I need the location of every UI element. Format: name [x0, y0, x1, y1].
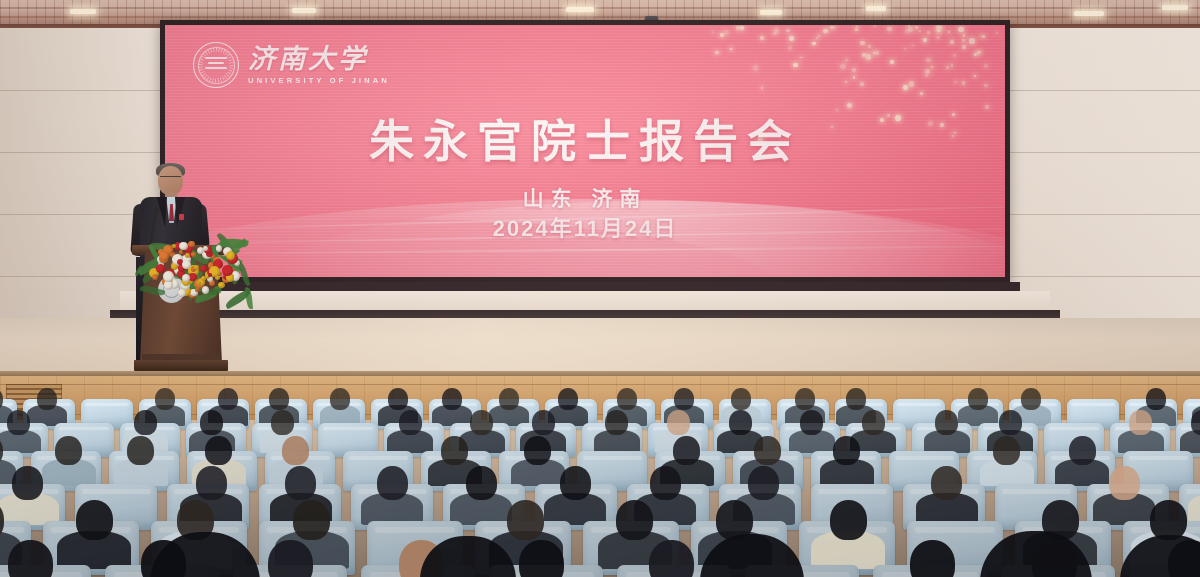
auditorium-scene: 济南大学 UNIVERSITY OF JINAN 朱永官院士报告会 山东 济南 …: [0, 0, 1200, 577]
audience-head: [269, 388, 289, 410]
bouquet-flower: [208, 273, 212, 277]
screen-bottom-trim: [150, 282, 1020, 291]
audience-head: [196, 466, 227, 500]
audience-head: [388, 388, 408, 410]
audience-head: [935, 410, 958, 435]
audience-head: [7, 410, 30, 435]
audience-head: [200, 410, 223, 435]
audience-head: [441, 436, 468, 465]
bouquet-flower: [159, 251, 169, 261]
bouquet-flower: [185, 253, 190, 258]
audience-head: [993, 436, 1020, 465]
audience-head: [558, 388, 578, 410]
audience-head: [37, 388, 57, 410]
audience-head: [285, 466, 316, 500]
screen-surface: 济南大学 UNIVERSITY OF JINAN 朱永官院士报告会 山东 济南 …: [165, 25, 1005, 277]
bouquet-leaf: [139, 283, 165, 297]
audience-head: [76, 500, 113, 540]
audience-head: [1021, 388, 1041, 410]
audience-head: [268, 540, 313, 577]
audience-head: [800, 410, 823, 435]
audience-head: [524, 436, 551, 465]
audience-head: [616, 500, 653, 540]
bouquet-leaf: [238, 261, 251, 286]
audience-head: [205, 436, 232, 465]
audience-head: [968, 388, 988, 410]
audience-head: [127, 436, 154, 465]
audience-head: [1109, 466, 1140, 500]
audience-head: [377, 466, 408, 500]
stage-back-wall-strip: [120, 291, 1050, 310]
audience-head: [830, 500, 867, 540]
audience-head: [910, 540, 955, 577]
ceiling-light: [1162, 5, 1188, 10]
bouquet-flower: [182, 260, 191, 269]
audience-head: [532, 410, 555, 435]
audience-head: [470, 410, 493, 435]
bouquet-flower: [152, 274, 158, 280]
audience-head: [795, 388, 815, 410]
audience-head: [754, 436, 781, 465]
audience-head: [399, 410, 422, 435]
audience-head: [499, 388, 519, 410]
audience-head: [330, 388, 350, 410]
audience-head: [846, 388, 866, 410]
audience-head: [605, 410, 628, 435]
ceiling-beam: [0, 16, 1200, 18]
audience-head: [442, 388, 462, 410]
bouquet-flower: [179, 242, 187, 250]
ceiling-light: [70, 9, 96, 14]
bouquet-flower: [218, 282, 225, 289]
audience-head: [1069, 436, 1096, 465]
audience-head: [282, 436, 309, 465]
audience-head: [293, 500, 330, 540]
bouquet-flower: [202, 286, 209, 293]
led-backdrop-screen: 济南大学 UNIVERSITY OF JINAN 朱永官院士报告会 山东 济南 …: [160, 20, 1010, 282]
audience-head: [218, 388, 238, 410]
ceiling-light: [292, 8, 316, 13]
audience-head: [999, 410, 1022, 435]
audience-head: [1146, 388, 1166, 410]
ceiling-beam: [0, 7, 1200, 9]
bouquet-flower: [156, 264, 165, 273]
audience-head: [931, 466, 962, 500]
audience-head: [649, 540, 694, 577]
bouquet-flower: [179, 250, 183, 254]
ceiling-light: [866, 6, 886, 11]
audience-head: [55, 436, 82, 465]
audience-head: [667, 410, 690, 435]
audience-head: [617, 388, 637, 410]
audience-head: [466, 466, 497, 500]
audience-head: [748, 466, 779, 500]
ceiling-light: [1074, 11, 1104, 16]
audience-head: [271, 410, 294, 435]
audience-head: [1191, 410, 1200, 435]
audience-head: [1150, 500, 1187, 540]
screen-vignette: [165, 25, 1005, 277]
speaker-lapel-badge: [179, 214, 184, 220]
bouquet-flower: [226, 251, 235, 260]
bouquet-flower: [222, 265, 232, 275]
audience-head: [862, 410, 885, 435]
audience-head: [673, 436, 700, 465]
audience-head: [507, 500, 544, 540]
speaker-glasses-icon: [160, 176, 181, 182]
audience-head: [134, 410, 157, 435]
seated-audience: [0, 370, 1200, 577]
bouquet-flower: [188, 241, 194, 247]
audience-head: [674, 388, 694, 410]
audience-head: [1129, 410, 1152, 435]
ceiling-light: [760, 10, 782, 15]
podium-group: [118, 162, 243, 377]
bouquet-flower: [182, 274, 190, 282]
audience-head: [729, 410, 752, 435]
audience-head: [731, 388, 751, 410]
ceiling-light: [566, 7, 594, 12]
bouquet-flower: [216, 245, 222, 251]
audience-head: [650, 466, 681, 500]
bouquet-flower: [163, 271, 174, 282]
audience-head: [833, 436, 860, 465]
floral-arrangement: [136, 224, 252, 296]
bouquet-flower: [201, 276, 206, 281]
audience-head: [12, 466, 43, 500]
audience-head: [155, 388, 175, 410]
bouquet-flower: [203, 246, 208, 251]
audience-head: [560, 466, 591, 500]
